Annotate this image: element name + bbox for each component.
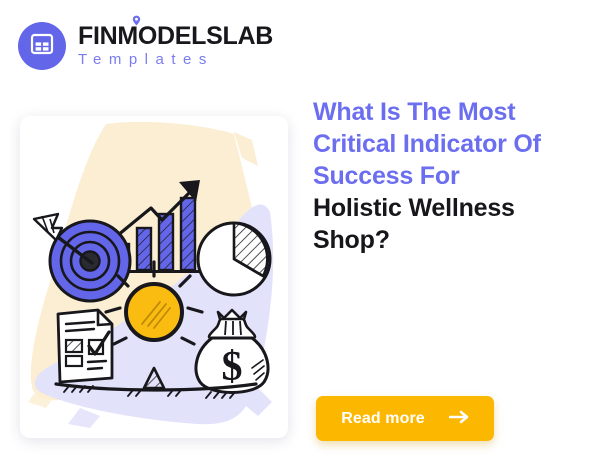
promo-card: FINMODELSLAB Templates	[0, 0, 600, 464]
arrow-right-icon	[449, 410, 469, 427]
logo-badge	[18, 22, 66, 70]
headline-subject-line-2: Shop?	[313, 224, 588, 256]
page-title: What Is The Most Critical Indicator Of S…	[313, 96, 588, 256]
headline-question-line-3: Success For	[313, 160, 588, 192]
headline-question-line-1: What Is The Most	[313, 96, 588, 128]
illustration-card: $	[20, 116, 288, 438]
document-checklist-icon	[58, 310, 112, 392]
brand-wordmark: FINMODELSLAB Templates	[78, 23, 273, 70]
svg-text:$: $	[222, 344, 243, 390]
pie-chart-icon	[198, 223, 270, 295]
headline-question-line-2: Critical Indicator Of	[313, 128, 588, 160]
read-more-button[interactable]: Read more	[316, 396, 494, 441]
brand-subtitle: Templates	[78, 50, 273, 70]
business-success-illustration: $	[20, 116, 288, 438]
location-pin-icon	[132, 15, 141, 29]
brand-header: FINMODELSLAB Templates	[18, 22, 273, 70]
brand-title: FINMODELSLAB	[78, 23, 273, 49]
headline-subject-line-1: Holistic Wellness	[313, 192, 588, 224]
grid-squares-icon	[29, 31, 55, 62]
read-more-label: Read more	[341, 410, 425, 428]
